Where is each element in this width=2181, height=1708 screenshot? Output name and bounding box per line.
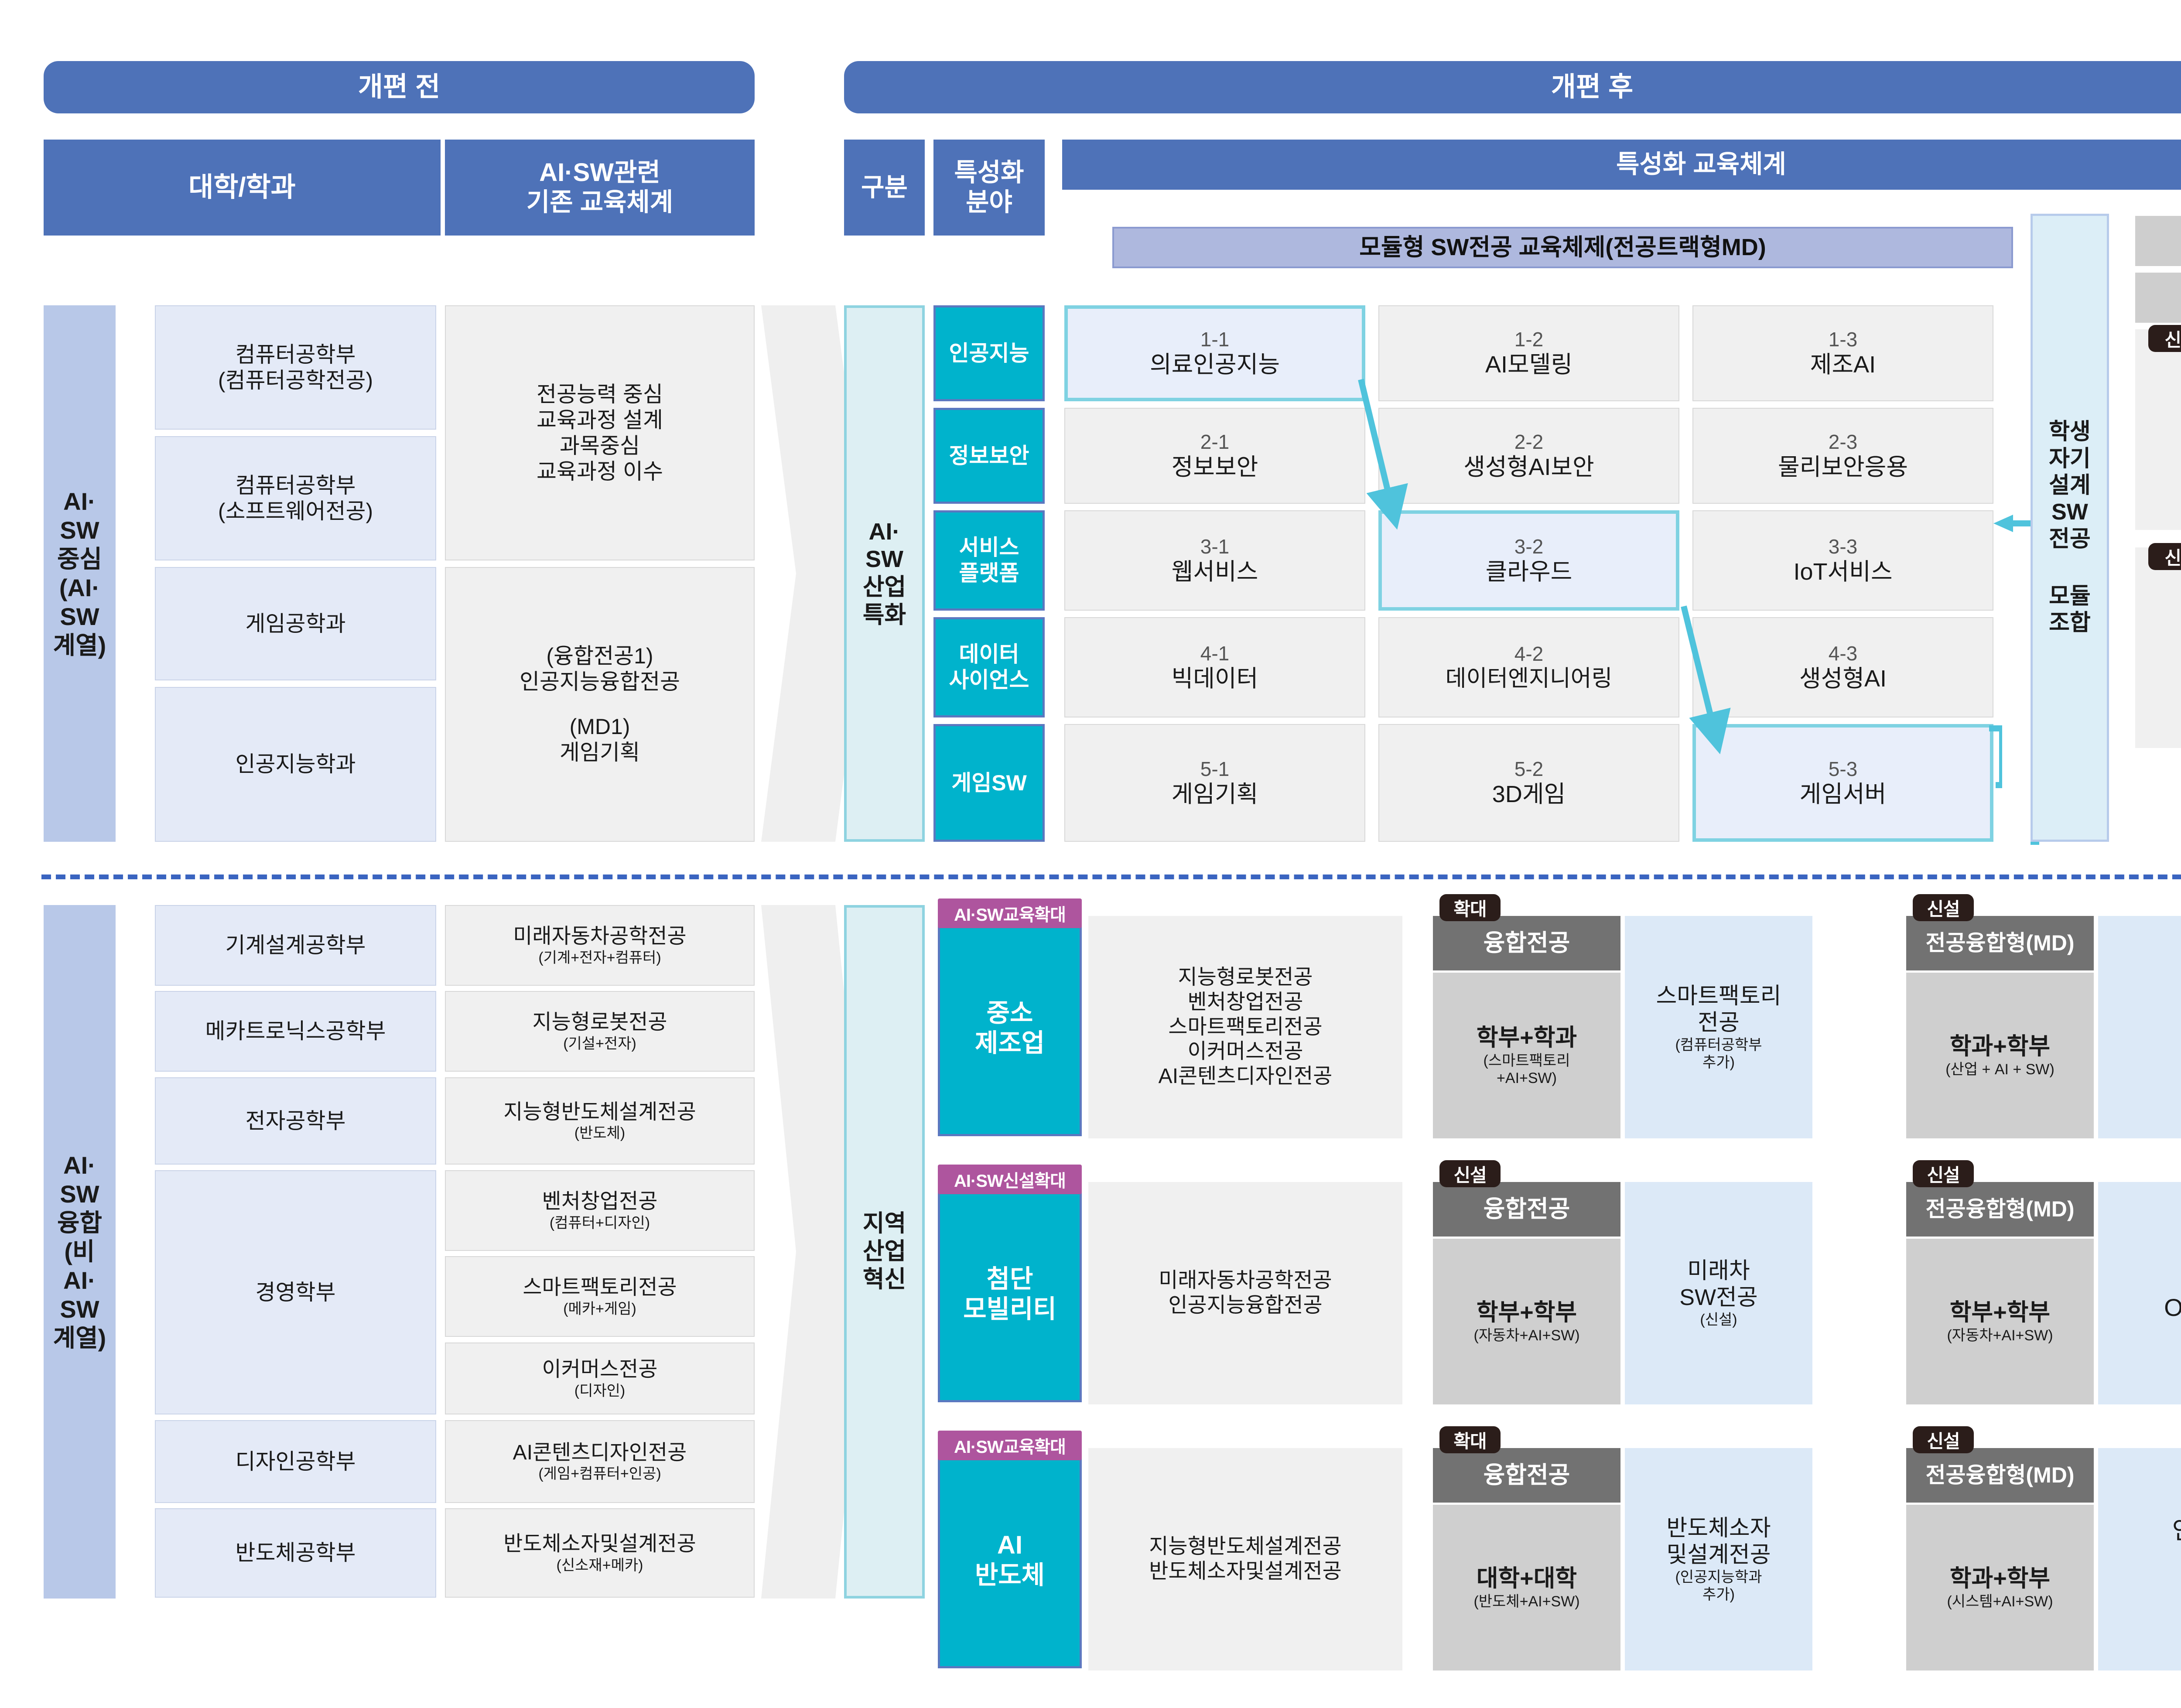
bottom-major-list-sme: 지능형로봇전공 벤처창업전공 스마트팩토리전공 이커머스전공 AI콘텐츠디자인전… — [1088, 916, 1402, 1138]
bottom-conv-major-mobility: 미래차 SW전공 (신설) — [1625, 1182, 1812, 1404]
field-chip-service-platform[interactable]: 서비스플랫폼 — [933, 510, 1045, 611]
bottom-major-list-semiconductor: 지능형반도체설계전공 반도체소자및설계전공 — [1088, 1448, 1402, 1670]
before-curriculum-item: 전공능력 중심 교육과정 설계 과목중심 교육과정 이수 — [445, 305, 755, 560]
bottom-md-combo-semiconductor: 학과+학부 (시스템+AI+SW) — [1906, 1505, 2094, 1670]
before-major-item: 지능형로봇전공(기설+전자) — [445, 991, 755, 1072]
after-top-gubun-panel: AI· SW 산업 특화 — [844, 305, 925, 842]
module-type-bar: 모듈형 SW전공 교육체제(전공트랙형MD) — [1112, 227, 2013, 268]
after-col-field-header: 특성화 분야 — [933, 140, 1045, 236]
bottom-outcome-sme: 산업AI — [2098, 916, 2181, 1138]
bottom-conv-title-sme: 융합전공 — [1433, 916, 1620, 970]
bottom-field-chip-sme-manufacturing[interactable]: 중소 제조업 — [938, 920, 1082, 1136]
after-title: 개편 후 — [844, 61, 2181, 113]
before-major-item: 벤처창업전공(컴퓨터+디자인) — [445, 1170, 755, 1251]
right-new-major-ai-creator: AI 크리에이터 융합전공 — [2135, 547, 2181, 748]
before-title: 개편 전 — [44, 61, 755, 113]
before-dept-item: 컴퓨터공학부 (컴퓨터공학전공) — [155, 305, 436, 430]
before-dept-item: 경영학부 — [155, 1170, 436, 1414]
tag-ai-sw-education-expand: AI·SW교육확대 — [938, 1431, 1082, 1460]
tag-ai-sw-education-expand: AI·SW교육확대 — [938, 898, 1082, 928]
bottom-md-title-sme: 전공융합형(MD) — [1906, 916, 2094, 970]
after-col-system-header: 특성화 교육체계 — [1062, 140, 2181, 190]
badge-expand: 확대 — [1439, 894, 1501, 921]
before-group-ai-sw-conv-label: AI· SW 융합 (비 AI· SW 계열) — [44, 905, 116, 1599]
before-dept-item: 디자인공학부 — [155, 1420, 436, 1503]
bottom-md-title-semiconductor: 전공융합형(MD) — [1906, 1448, 2094, 1503]
field-chip-game-sw[interactable]: 게임SW — [933, 724, 1045, 842]
before-col-dept-header: 대학/학과 — [44, 140, 441, 236]
field-chip-data-science[interactable]: 데이터사이언스 — [933, 617, 1045, 717]
badge-new: 신설 — [1439, 1160, 1501, 1187]
bottom-field-chip-advanced-mobility[interactable]: 첨단 모빌리티 — [938, 1186, 1082, 1402]
before-major-item: 미래자동차공학전공(기계+전자+컴퓨터) — [445, 905, 755, 986]
bottom-md-combo-sme: 학과+학부 (산업 + AI + SW) — [1906, 973, 2094, 1138]
bottom-major-list-mobility: 미래자동차공학전공 인공지능융합전공 — [1088, 1182, 1402, 1404]
bottom-outcome-semiconductor: 인공지능 시스템 설계 — [2098, 1448, 2181, 1670]
before-dept-item: 전자공학부 — [155, 1077, 436, 1165]
bottom-conv-major-semiconductor: 반도체소자 및설계전공 (인공지능학과 추가) — [1625, 1448, 1812, 1670]
before-dept-item: 기계설계공학부 — [155, 905, 436, 986]
before-major-item: AI콘텐츠디자인전공(게임+컴퓨터+인공) — [445, 1420, 755, 1503]
before-major-item: 지능형반도체설계전공(반도체) — [445, 1077, 755, 1165]
before-curriculum-item: (융합전공1) 인공지능융합전공 (MD1) 게임기획 — [445, 567, 755, 842]
module-flow-arrows — [1060, 301, 2002, 846]
bottom-conv-combo-mobility: 학부+학부 (자동차+AI+SW) — [1433, 1239, 1620, 1404]
field-chip-security[interactable]: 정보보안 — [933, 408, 1045, 504]
badge-expand: 확대 — [1439, 1426, 1501, 1453]
tag-ai-sw-new-expand: AI·SW신설확대 — [938, 1165, 1082, 1194]
section-divider — [41, 874, 2181, 879]
badge-new: 신설 — [1913, 1426, 1974, 1453]
before-group-ai-sw-core-label: AI· SW 중심 (AI· SW 계열) — [44, 305, 116, 842]
after-bottom-gubun-panel: 지역 산업 혁신 — [844, 905, 925, 1599]
before-dept-item: 메카트로닉스공학부 — [155, 991, 436, 1072]
before-major-item: 이커머스전공(디자인) — [445, 1342, 755, 1414]
before-dept-item: 반도체공학부 — [155, 1508, 436, 1598]
before-major-item: 반도체소자및설계전공(신소재+메카) — [445, 1508, 755, 1598]
before-major-item: 스마트팩토리전공(메카+게임) — [445, 1256, 755, 1337]
bottom-md-title-mobility: 전공융합형(MD) — [1906, 1182, 2094, 1237]
before-dept-item: 게임공학과 — [155, 567, 436, 680]
before-dept-item: 컴퓨터공학부 (소프트웨어전공) — [155, 436, 436, 560]
bottom-conv-combo-semiconductor: 대학+대학 (반도체+AI+SW) — [1433, 1505, 1620, 1670]
badge-new: 신설 — [2148, 325, 2181, 352]
bottom-md-combo-mobility: 학부+학부 (자동차+AI+SW) — [1906, 1239, 2094, 1404]
field-chip-ai[interactable]: 인공지능 — [933, 305, 1045, 401]
before-col-curriculum-header: AI·SW관련 기존 교육체계 — [445, 140, 755, 236]
right-new-major-quantum: 양자병렬 컴퓨팅 융합전공 — [2135, 329, 2181, 530]
badge-new: 신설 — [1913, 1160, 1974, 1187]
right-header-convergence-major: 융합전공 — [2135, 216, 2181, 266]
bottom-conv-title-semiconductor: 융합전공 — [1433, 1448, 1620, 1503]
bottom-conv-major-sme: 스마트팩토리 전공 (컴퓨터공학부 추가) — [1625, 916, 1812, 1138]
self-design-sw-major-panel: 학생 자기 설계 SW 전공 모듈 조합 — [2031, 214, 2109, 842]
bottom-field-chip-ai-semiconductor[interactable]: AI 반도체 — [938, 1452, 1082, 1668]
right-header-ai-sw: AI+SW — [2135, 273, 2181, 323]
bottom-outcome-mobility: 자동차 Open SW — [2098, 1182, 2181, 1404]
after-col-gubun-header: 구분 — [844, 140, 925, 236]
before-dept-item: 인공지능학과 — [155, 687, 436, 842]
bottom-conv-title-mobility: 융합전공 — [1433, 1182, 1620, 1237]
bottom-conv-combo-sme: 학부+학과 (스마트팩토리 +AI+SW) — [1433, 973, 1620, 1138]
badge-new: 신설 — [1913, 894, 1974, 921]
badge-new: 신설 — [2148, 543, 2181, 570]
